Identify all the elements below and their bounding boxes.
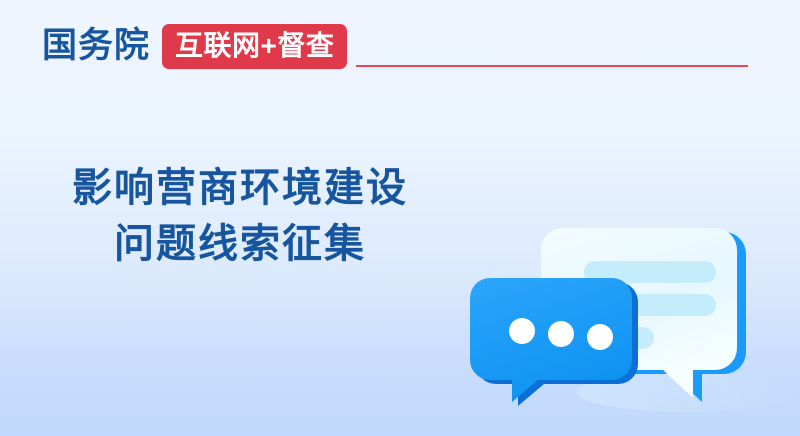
banner-root: 国务院 互联网+督查 影响营商环境建设 问题线索征集 (0, 0, 800, 436)
front-bubble-dot-3 (587, 324, 613, 350)
chat-bubbles-illustration (470, 214, 800, 436)
page-title-line-2: 问题线索征集 (0, 216, 480, 272)
brand-badge: 互联网+督查 (162, 24, 347, 69)
header-divider-rule (356, 65, 748, 67)
banner-header: 国务院 互联网+督查 (0, 0, 800, 90)
page-title-line-1: 影响营商环境建设 (0, 160, 480, 216)
brand-name: 国务院 (42, 24, 150, 68)
front-bubble-dot-1 (509, 318, 535, 344)
brand-lockup: 国务院 互联网+督查 (42, 24, 347, 69)
front-bubble-dot-2 (548, 321, 574, 347)
page-title: 影响营商环境建设 问题线索征集 (0, 160, 480, 272)
